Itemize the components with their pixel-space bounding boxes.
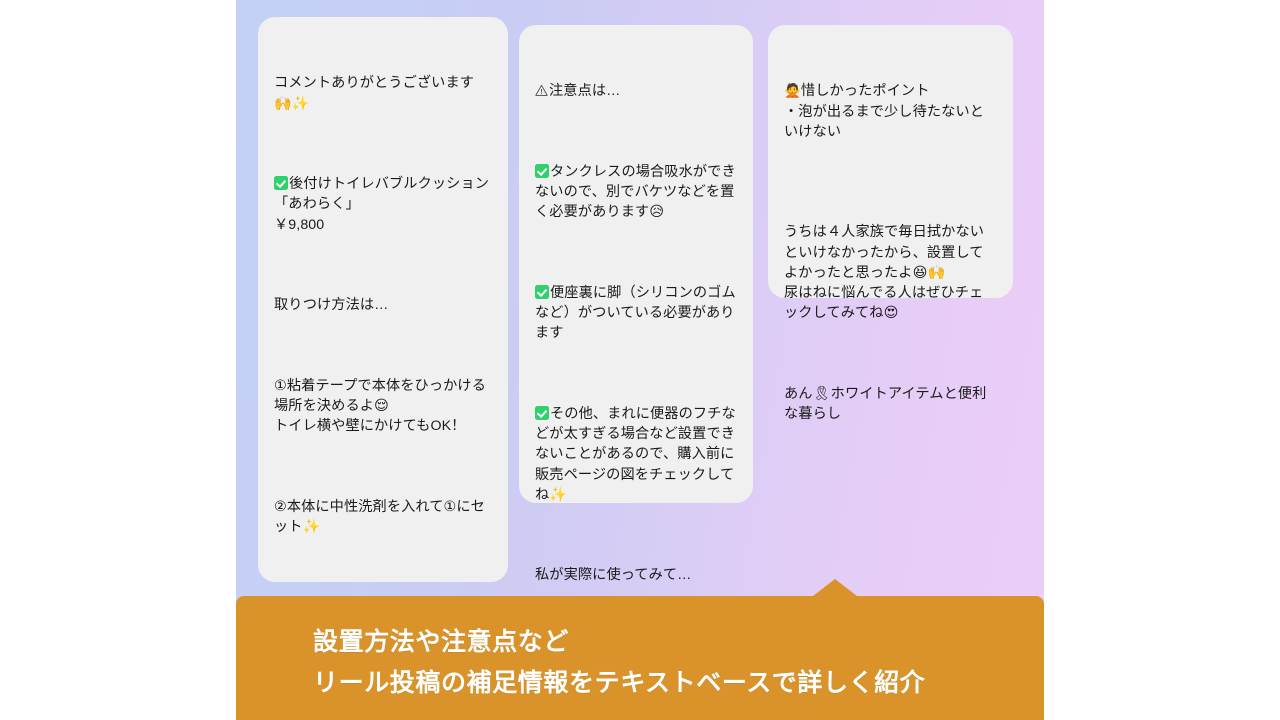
card1-block-3: ①粘着テープで本体をひっかける場所を決めるよ😌 トイレ横や壁にかけてもOK！ [274,376,492,437]
card-cons-and-closing: 🙅惜しかったポイント ・泡が出るまで少し待たないといけない うちは４人家族で毎日… [768,25,1013,298]
card1-block-2: 取りつけ方法は… [274,295,492,315]
warning-triangle-icon [535,84,548,97]
green-check-icon [535,285,549,299]
card2-block-0: 注意点は… [535,81,737,101]
gradient-content-canvas: コメントありがとうございます 🙌✨ 後付けトイレバブルクッション「あわらく」 ￥… [236,0,1044,720]
card2-block-3: その他、まれに便器のフチなどが太すぎる場合など設置できないことがあるので、購入前… [535,404,737,505]
card1-block-0: コメントありがとうございます 🙌✨ [274,73,492,113]
green-check-icon [535,164,549,178]
card3-block-1: うちは４人家族で毎日拭かないといけなかったから、設置してよかったと思ったよ😆🙌 … [784,222,997,323]
banner-text: 設置方法や注意点など リール投稿の補足情報をテキストベースで詳しく紹介 [313,622,925,704]
card1-block-4: ②本体に中性洗剤を入れて①にセット✨ [274,497,492,537]
slide-canvas-wrapper: コメントありがとうございます 🙌✨ 後付けトイレバブルクッション「あわらく」 ￥… [0,0,1280,720]
bottom-caption-banner: 設置方法や注意点など リール投稿の補足情報をテキストベースで詳しく紹介 [236,596,1044,720]
banner-notch-triangle-icon [813,579,857,596]
card2-block-1: タンクレスの場合吸水ができないので、別でバケツなどを置く必要があります😥 [535,162,737,223]
banner-line-2: リール投稿の補足情報をテキストベースで詳しく紹介 [313,663,925,704]
card1-block-1: 後付けトイレバブルクッション「あわらく」 ￥9,800 [274,174,492,235]
card-intro-and-steps: コメントありがとうございます 🙌✨ 後付けトイレバブルクッション「あわらく」 ￥… [258,17,508,582]
green-check-icon [274,176,288,190]
card3-block-0: 🙅惜しかったポイント ・泡が出るまで少し待たないといけない [784,81,997,142]
card2-block-2: 便座裏に脚（シリコンのゴムなど）がついている必要があります [535,283,737,344]
banner-line-1: 設置方法や注意点など [313,622,925,663]
card-cautions-and-pros: 注意点は… タンクレスの場合吸水ができないので、別でバケツなどを置く必要がありま… [519,25,753,503]
card3-block-2: あん🎗ホワイトアイテムと便利な暮らし [784,384,997,424]
card2-block-4: 私が実際に使ってみて… [535,565,737,585]
person-gesturing-no-emoji: 🙅 [784,83,801,99]
green-check-icon [535,406,549,420]
